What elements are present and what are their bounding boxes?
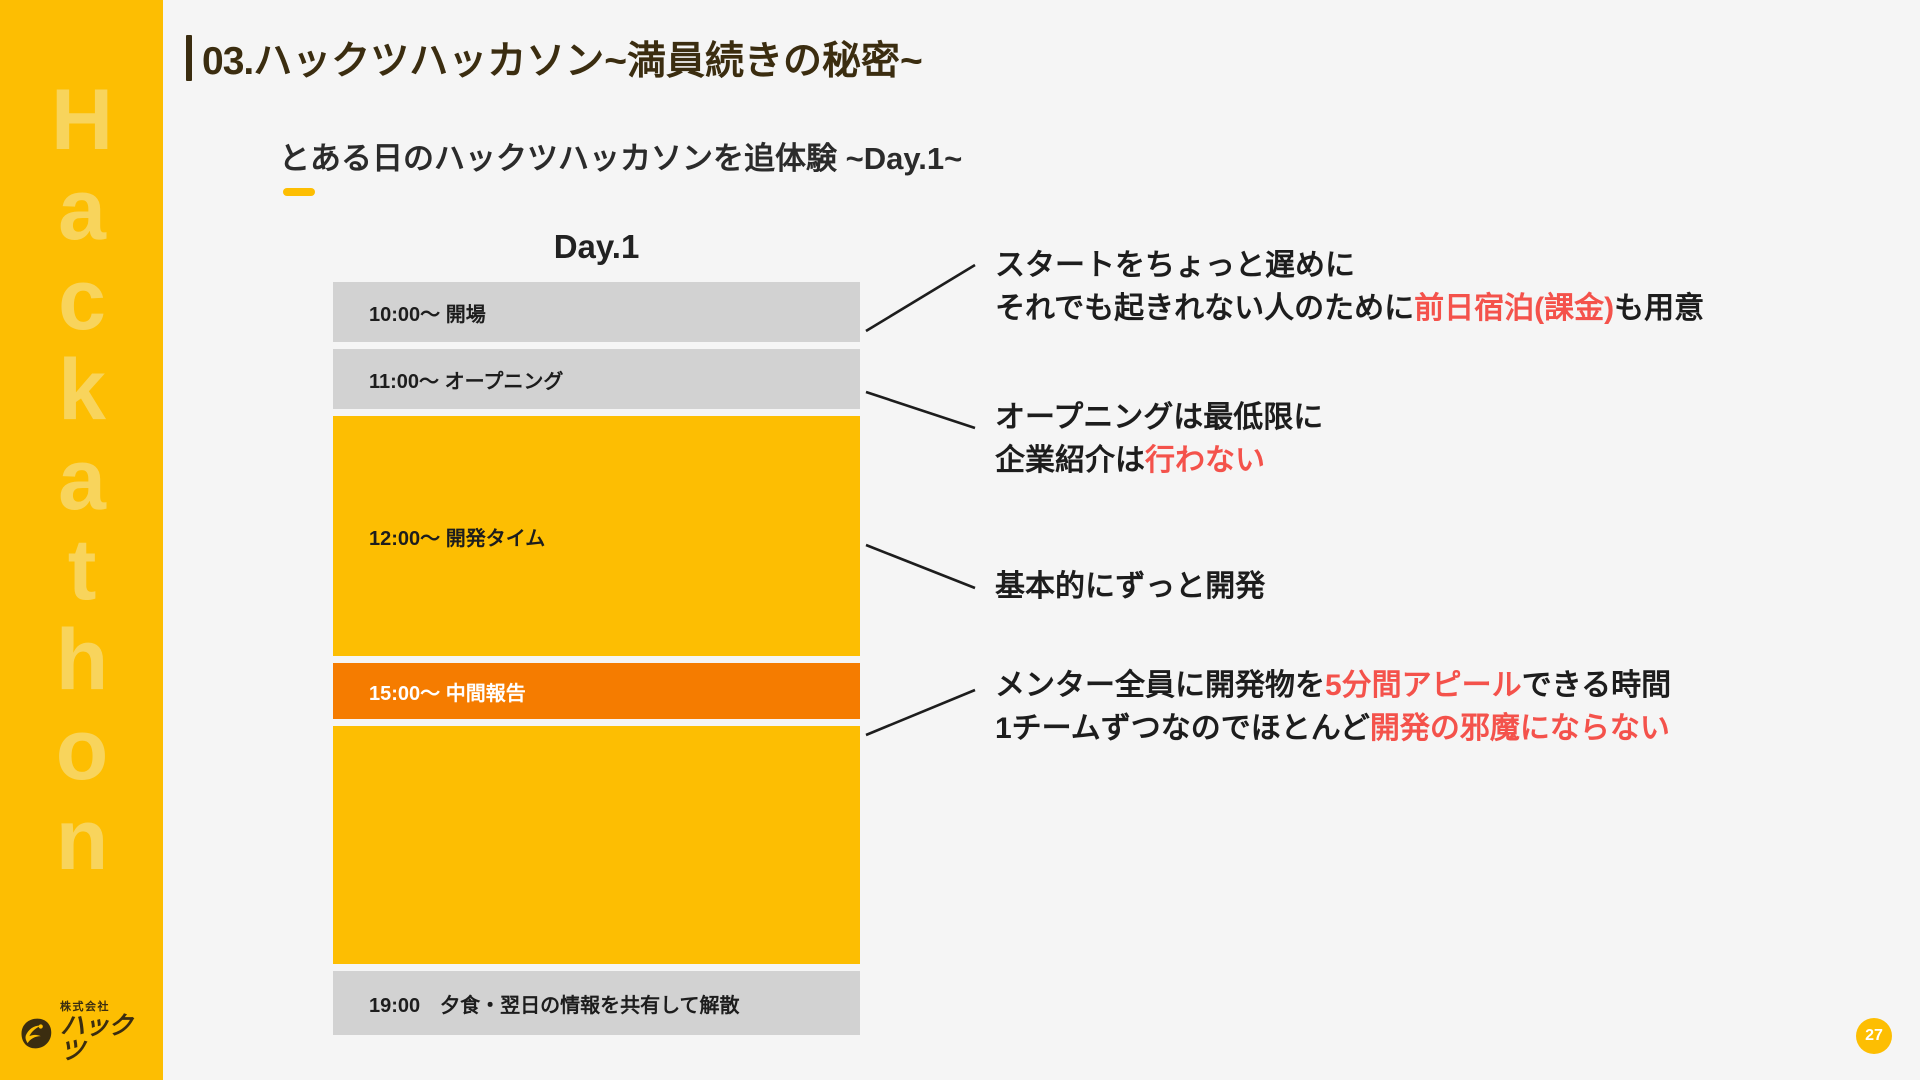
timeline-table: 10:00〜 開場11:00〜 オープニング12:00〜 開発タイム15:00〜… [333,282,860,1035]
annotation-line: それでも起きれない人のために前日宿泊(課金)も用意 [995,288,1704,331]
annotation-text: できる時間 [1522,669,1671,702]
company-logo-text: 株式会社 ハックツ [60,1002,150,1064]
timeline-row-label: 11:00〜 オープニング [333,365,563,394]
annotation-text: も用意 [1614,292,1704,325]
timeline-row[interactable] [333,726,860,964]
page-subtitle: とある日のハックツハッカソンを追体験 ~Day.1~ [279,133,962,178]
leader-line-1 [866,265,975,331]
timeline-row-gap [333,342,860,349]
timeline-row[interactable]: 15:00〜 中間報告 [333,663,860,719]
company-name: ハックツ [60,1014,150,1064]
slide-root: Hackathon 株式会社 ハックツ 03.ハックツハッカソン~満員続きの秘密… [0,0,1920,1080]
timeline-row-label: 15:00〜 中間報告 [333,677,526,706]
timeline-row-label: 19:00 夕食・翌日の情報を共有して解散 [333,989,740,1018]
annotation-line: 1チームずつなのでほとんど開発の邪魔にならない [995,708,1671,751]
timeline-row[interactable]: 10:00〜 開場 [333,282,860,342]
page-title-number: 03. [202,40,253,83]
annotation-text: 企業紹介は [995,444,1145,477]
annotation-highlight-text: 開発の邪魔にならない [1370,712,1670,745]
annotation-text: 基本的にずっと開発 [995,570,1265,603]
sidebar-vertical-wordmark-text: Hackathon [42,72,121,882]
annotation-line: オープニングは最低限に [995,397,1323,440]
title-accent-bar [186,35,192,81]
annotation-line: スタートをちょっと遅めに [995,245,1704,288]
leader-line-4 [866,690,975,735]
annotation-text: スタートをちょっと遅めに [995,249,1355,282]
annotation-line: メンター全員に開発物を5分間アピールできる時間 [995,665,1671,708]
company-logo: 株式会社 ハックツ [18,1008,150,1058]
leader-line-2 [866,392,975,428]
hackts-bird-logo-icon [18,1016,53,1051]
timeline-row-gap [333,656,860,663]
timeline-row-gap [333,964,860,971]
timeline-heading: Day.1 [333,228,860,266]
annotation-line: 企業紹介は行わない [995,440,1323,483]
annotation-dev-time: 基本的にずっと開発 [995,566,1265,609]
annotation-highlight-text: 前日宿泊(課金) [1414,292,1614,325]
annotation-highlight-text: 5分間アピール [1325,669,1522,702]
left-sidebar: Hackathon 株式会社 ハックツ [0,0,163,1080]
timeline-row[interactable]: 12:00〜 開発タイム [333,416,860,656]
timeline-row[interactable]: 11:00〜 オープニング [333,349,860,409]
timeline-row-gap [333,719,860,726]
page-number-badge: 27 [1856,1018,1892,1054]
timeline-row-gap [333,409,860,416]
leader-line-3 [866,545,975,588]
timeline-row[interactable]: 19:00 夕食・翌日の情報を共有して解散 [333,971,860,1035]
annotation-text: メンター全員に開発物を [995,669,1325,702]
annotation-highlight-text: 行わない [1145,444,1265,477]
page-title-label: ハックツハッカソン~満員続きの秘密~ [253,40,923,83]
timeline-row-label: 12:00〜 開発タイム [333,522,545,551]
annotation-text: それでも起きれない人のために [995,292,1414,325]
timeline-row-label: 10:00〜 開場 [333,298,486,327]
annotation-line: 基本的にずっと開発 [995,566,1265,609]
sidebar-vertical-wordmark: Hackathon [0,0,163,1000]
annotation-opening-time: スタートをちょっと遅めにそれでも起きれない人のために前日宿泊(課金)も用意 [995,245,1704,330]
annotation-midterm-report: メンター全員に開発物を5分間アピールできる時間1チームずつなのでほとんど開発の邪… [995,665,1671,750]
annotation-text: 1チームずつなのでほとんど [995,712,1370,745]
subtitle-underline-accent [283,188,315,196]
page-title: 03.ハックツハッカソン~満員続きの秘密~ [202,30,923,86]
annotation-opening-ceremony: オープニングは最低限に企業紹介は行わない [995,397,1323,482]
annotation-text: オープニングは最低限に [995,401,1323,434]
page-title-row: 03.ハックツハッカソン~満員続きの秘密~ [186,30,923,86]
